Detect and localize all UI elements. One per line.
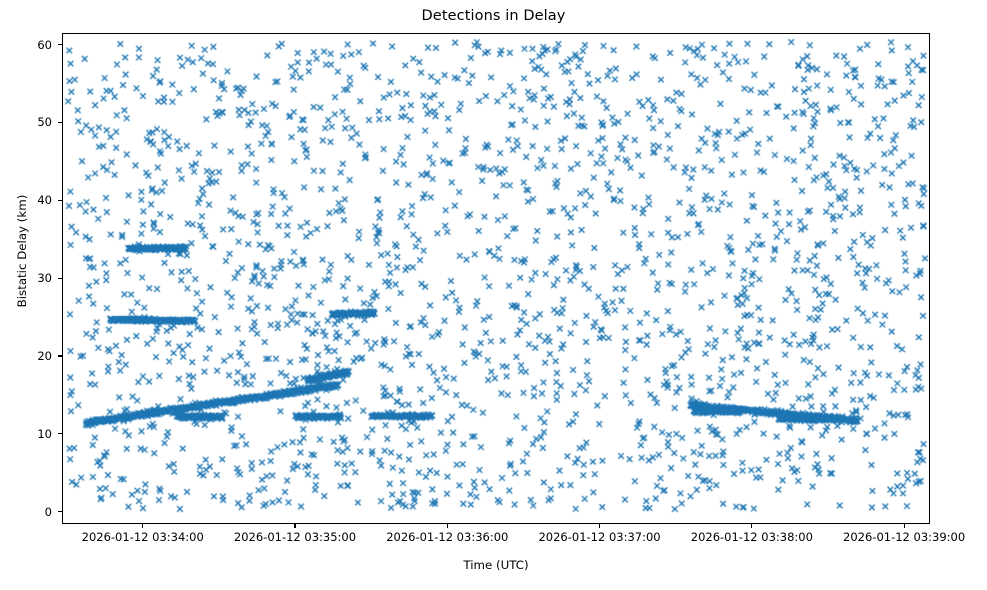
x-tick-mark [599, 524, 600, 528]
matplotlib-figure: Detections in Delay 2026-01-12 03:34:002… [0, 0, 987, 590]
y-tick-label: 0 [0, 505, 52, 519]
x-tick-mark [294, 524, 295, 528]
plot-area [62, 33, 930, 524]
x-tick-mark [142, 524, 143, 528]
y-tick-mark [58, 355, 62, 356]
y-tick-mark [58, 200, 62, 201]
y-tick-mark [58, 122, 62, 123]
x-tick-mark [447, 524, 448, 528]
y-tick-mark [58, 511, 62, 512]
y-tick-mark [58, 433, 62, 434]
x-tick-mark [751, 524, 752, 528]
chart-title: Detections in Delay [0, 8, 987, 24]
y-tick-mark [58, 44, 62, 45]
x-tick-label: 2026-01-12 03:36:00 [386, 530, 508, 544]
x-tick-mark [904, 524, 905, 528]
y-tick-label: 10 [0, 427, 52, 441]
y-tick-mark [58, 278, 62, 279]
x-tick-label: 2026-01-12 03:37:00 [538, 530, 660, 544]
y-tick-label: 60 [0, 38, 52, 52]
x-tick-label: 2026-01-12 03:39:00 [843, 530, 965, 544]
x-tick-label: 2026-01-12 03:35:00 [234, 530, 356, 544]
x-axis-label: Time (UTC) [62, 558, 930, 572]
y-axis-label: Bistatic Delay (km) [15, 121, 29, 381]
x-tick-label: 2026-01-12 03:34:00 [82, 530, 204, 544]
scatter-canvas [63, 34, 929, 523]
x-tick-label: 2026-01-12 03:38:00 [691, 530, 813, 544]
